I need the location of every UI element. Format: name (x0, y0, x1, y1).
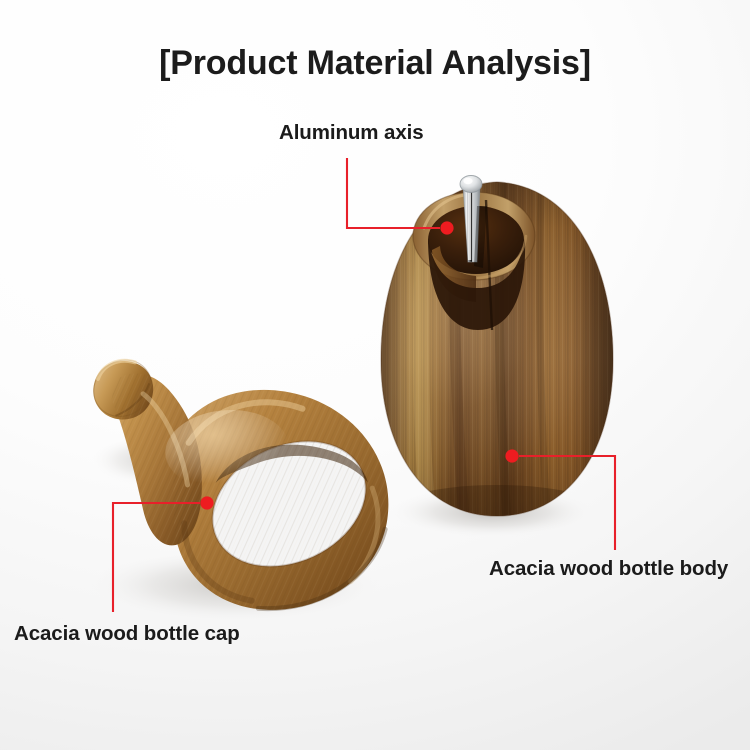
leader-bottle-cap (113, 496, 214, 612)
leader-aluminum-axis (347, 158, 454, 235)
leader-dot-bottle-body (505, 449, 518, 462)
infographic-canvas: [Product Material Analysis] Aluminum axi… (0, 0, 750, 750)
leader-bottle-body (505, 449, 615, 550)
leader-dot-aluminum-axis (440, 221, 453, 234)
leader-dot-bottle-cap (200, 496, 213, 509)
callout-leader-lines (0, 0, 750, 750)
